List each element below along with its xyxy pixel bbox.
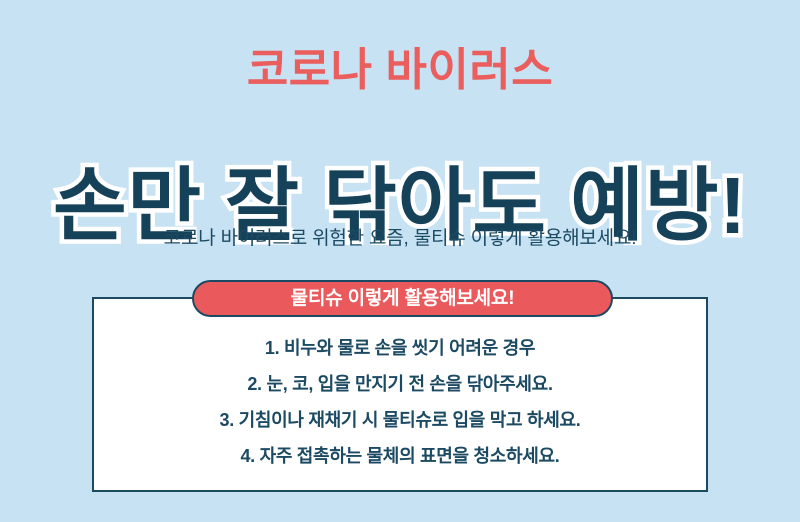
- subtitle-text: 코로나 바이러스로 위험한 요즘, 물티슈 이렇게 활용해보세요!: [0, 226, 800, 252]
- list-item: 2. 눈, 코, 입을 만지기 전 손을 닦아주세요.: [247, 373, 552, 395]
- tips-list: 1. 비누와 물로 손을 씻기 어려운 경우 2. 눈, 코, 입을 만지기 전…: [92, 297, 708, 492]
- eyebrow-title: 코로나 바이러스: [0, 44, 800, 96]
- list-item: 3. 기침이나 재채기 시 물티슈로 입을 막고 하세요.: [220, 409, 581, 431]
- poster-canvas: 코로나 바이러스 손만 잘 닦아도 예방! 코로나 바이러스로 위험한 요즘, …: [0, 0, 800, 522]
- list-item: 1. 비누와 물로 손을 씻기 어려운 경우: [265, 337, 535, 359]
- tips-panel-badge: 물티슈 이렇게 활용해보세요!: [192, 280, 613, 317]
- list-item: 4. 자주 접촉하는 물체의 표면을 청소하세요.: [240, 445, 559, 467]
- badge-label: 물티슈 이렇게 활용해보세요!: [291, 289, 515, 308]
